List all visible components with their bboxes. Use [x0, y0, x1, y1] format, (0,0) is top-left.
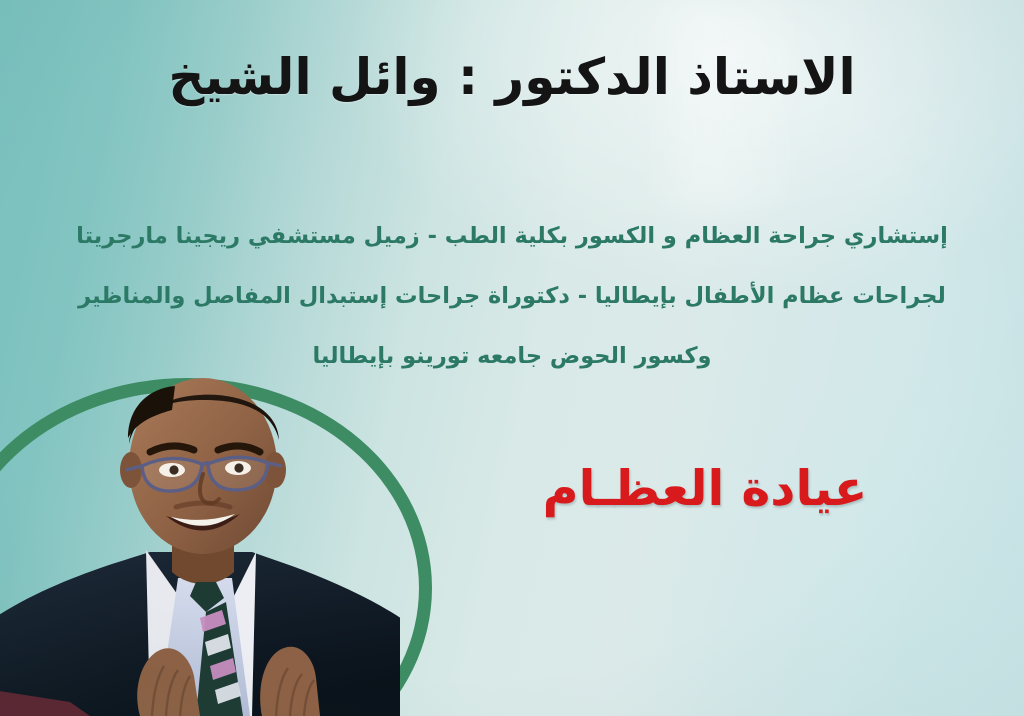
clinic-name: عيادة العظـام — [470, 460, 940, 517]
credentials-line-1: إستشاري جراحة العظام و الكسور بكلية الطب… — [0, 206, 1024, 266]
poster-canvas: الاستاذ الدكتور : وائل الشيخ إستشاري جرا… — [0, 0, 1024, 716]
page-title: الاستاذ الدكتور : وائل الشيخ — [0, 48, 1024, 106]
credentials-block: إستشاري جراحة العظام و الكسور بكلية الطب… — [0, 206, 1024, 386]
portrait-illustration — [0, 366, 400, 716]
credentials-line-2: لجراحات عظام الأطفال بإيطاليا - دكتوراة … — [0, 266, 1024, 326]
doctor-portrait — [0, 366, 400, 716]
